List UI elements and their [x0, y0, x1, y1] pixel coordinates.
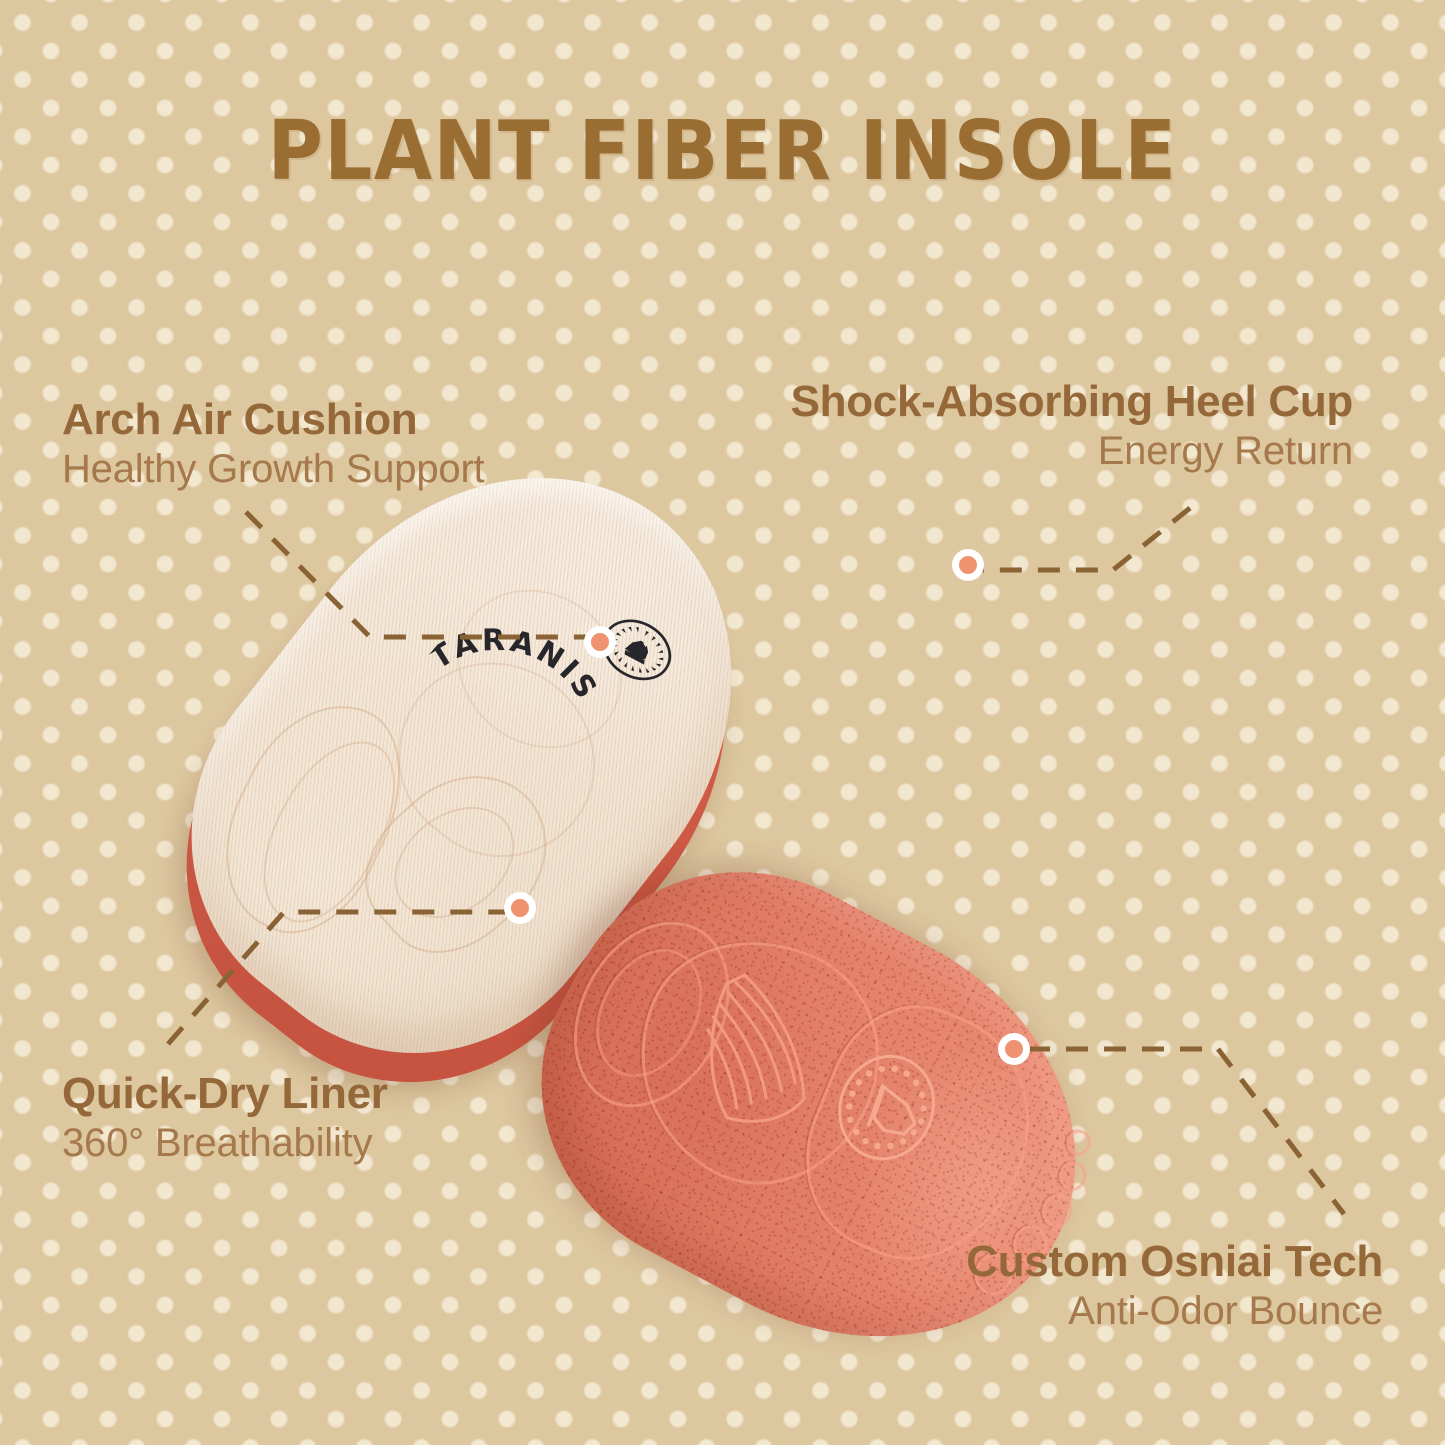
callout-subtext: 360° Breathability	[62, 1122, 388, 1165]
connector-line-custom-osniai-tech	[1028, 1049, 1344, 1214]
callout-heading: Quick-Dry Liner	[62, 1070, 388, 1118]
callout-heading: Shock-Absorbing Heel Cup	[791, 378, 1353, 426]
callout-subtext: Anti-Odor Bounce	[966, 1290, 1383, 1333]
callout-label-quick-dry-liner: Quick-Dry Liner 360° Breathability	[62, 1070, 388, 1165]
callout-heading: Arch Air Cushion	[62, 396, 484, 444]
connector-line-arch-air-cushion	[246, 512, 588, 637]
callout-label-arch-air-cushion: Arch Air Cushion Healthy Growth Support	[62, 396, 484, 491]
callout-dots	[504, 549, 1030, 1065]
callout-dot-shock-absorbing-heel-cup	[952, 549, 984, 581]
callout-dot-custom-osniai-tech	[998, 1033, 1030, 1065]
callout-dot-arch-air-cushion	[584, 626, 616, 658]
infographic-canvas: PLANT FIBER INSOLE TARANIS	[0, 0, 1445, 1445]
connector-line-shock-absorbing-heel-cup	[982, 508, 1190, 570]
callout-label-custom-osniai-tech: Custom Osniai Tech Anti-Odor Bounce	[966, 1238, 1383, 1333]
callout-heading: Custom Osniai Tech	[966, 1238, 1383, 1286]
callout-label-shock-absorbing-heel-cup: Shock-Absorbing Heel Cup Energy Return	[791, 378, 1353, 473]
callout-subtext: Energy Return	[791, 430, 1353, 473]
connector-line-quick-dry-liner	[168, 912, 508, 1044]
callout-subtext: Healthy Growth Support	[62, 448, 484, 491]
callout-connectors	[0, 0, 1445, 1445]
callout-dot-quick-dry-liner	[504, 892, 536, 924]
